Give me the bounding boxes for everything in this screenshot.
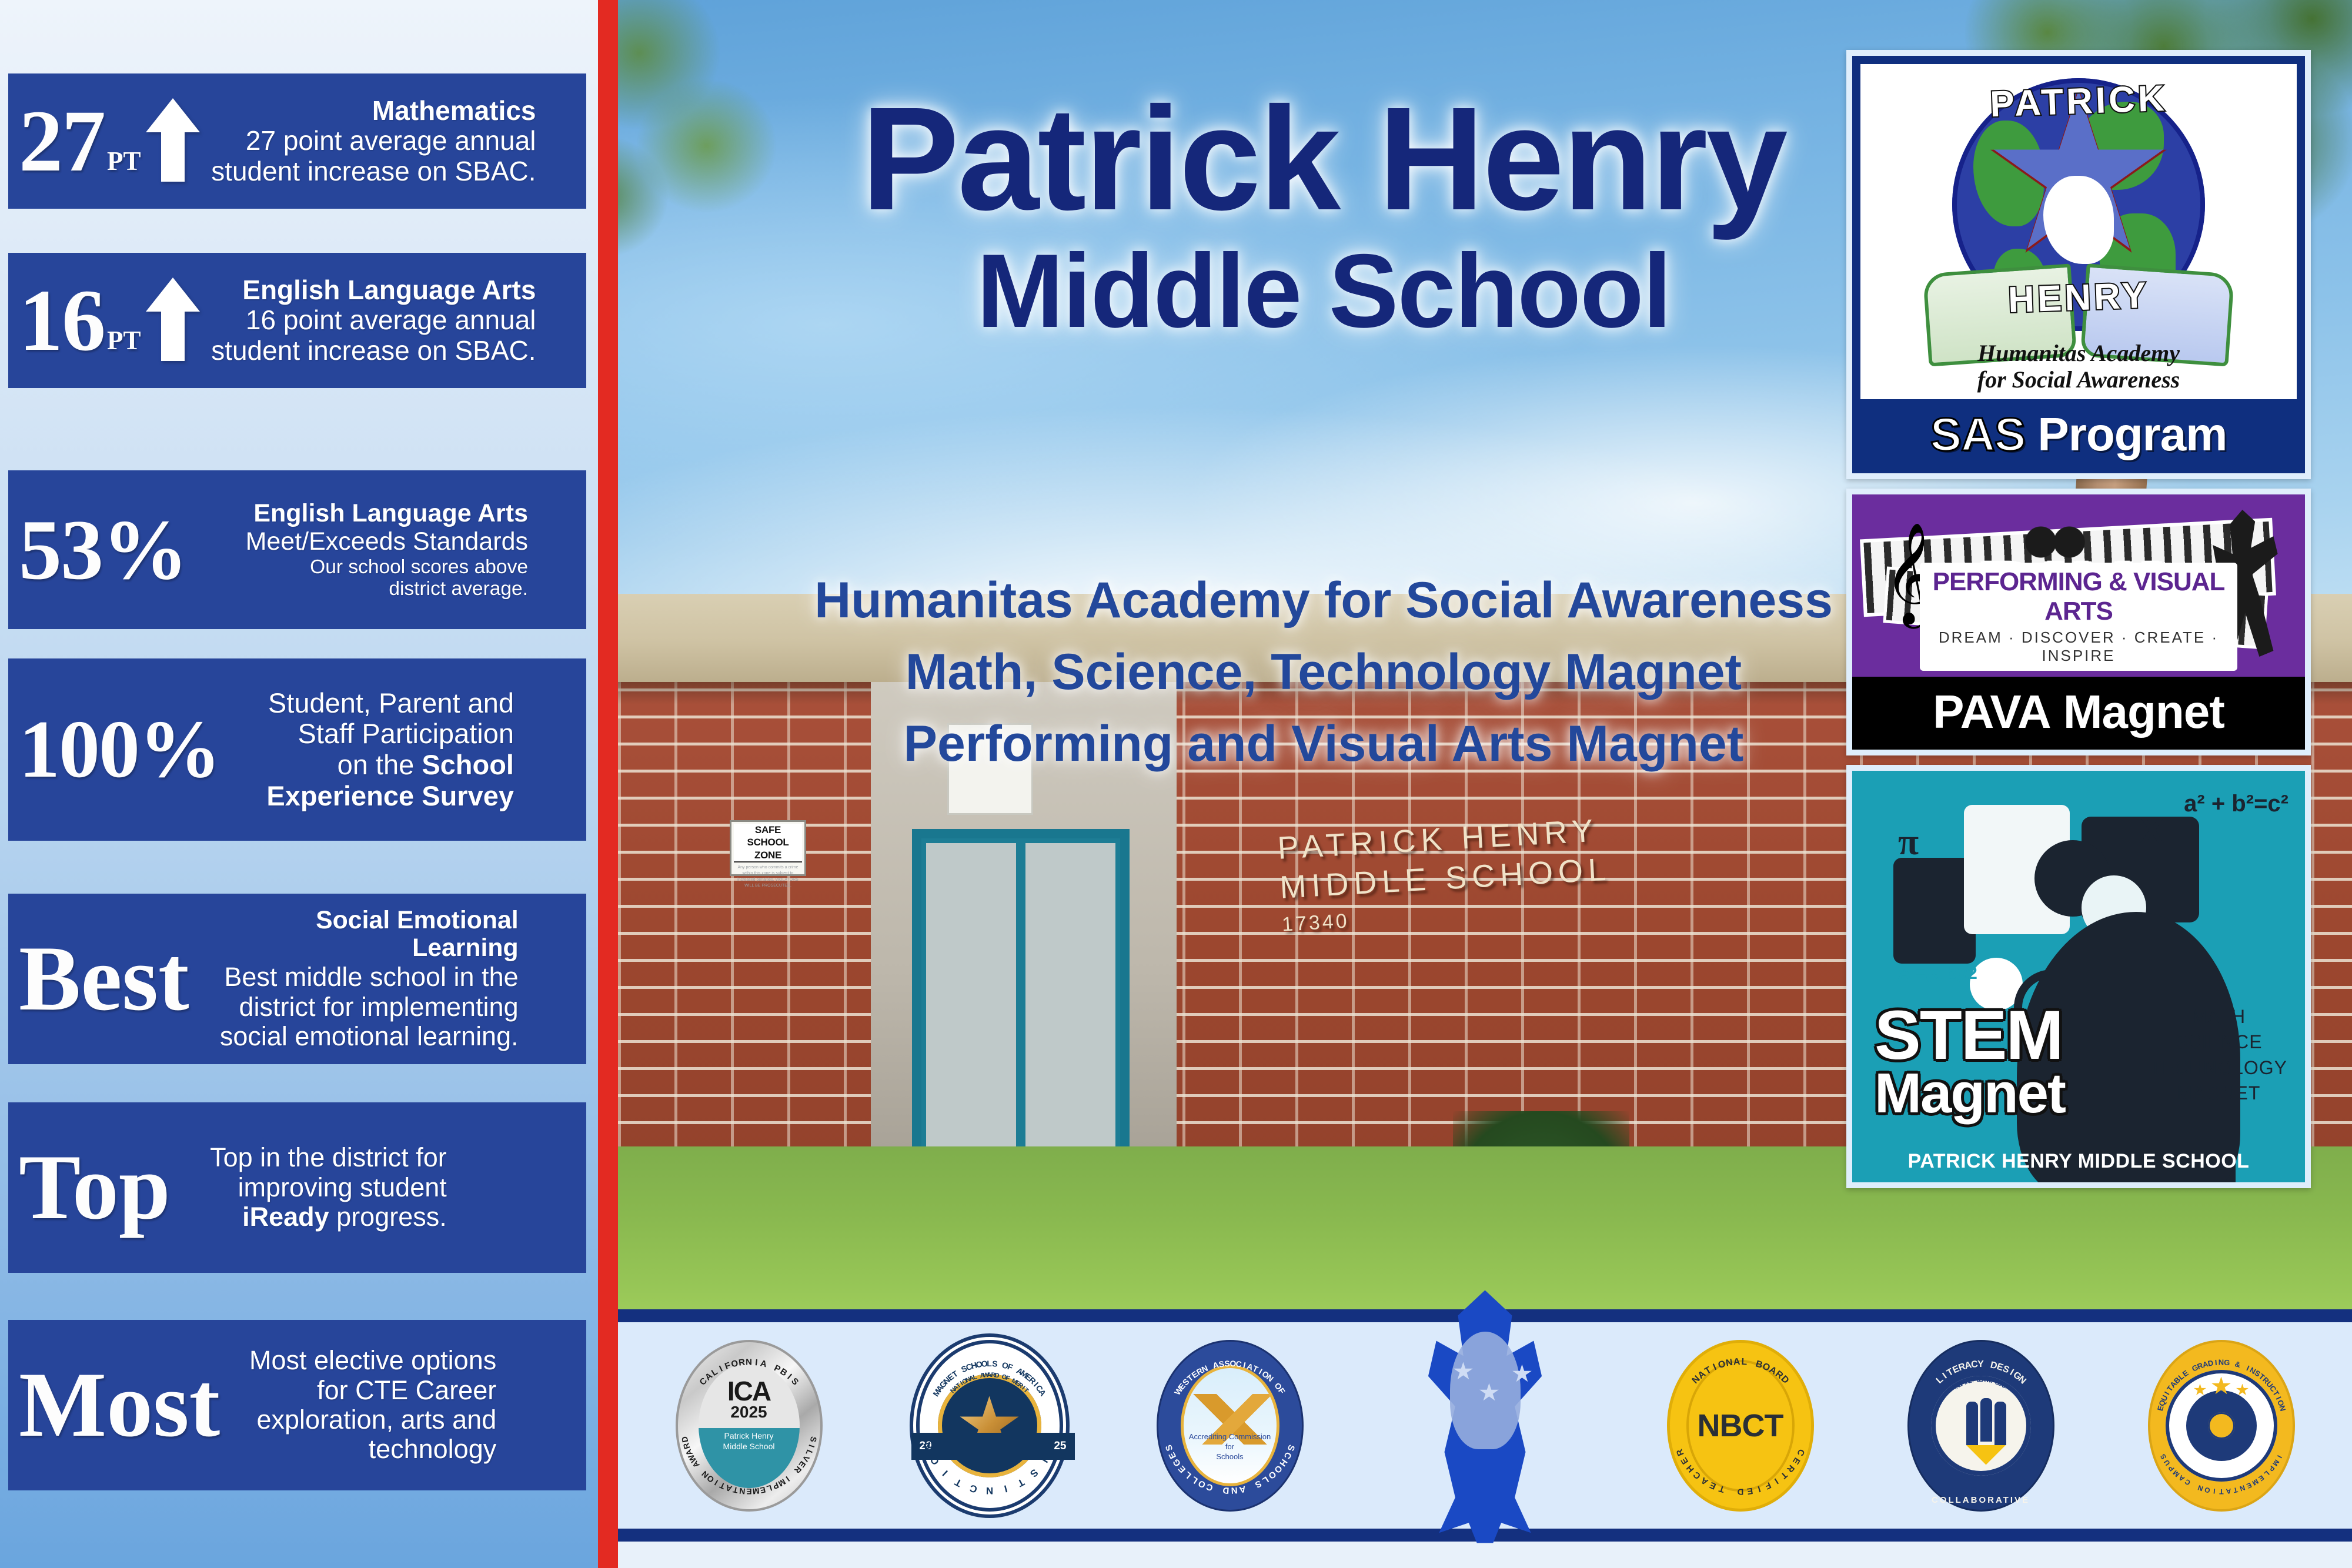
card-pava-label-bold: PAVA: [1933, 686, 2050, 738]
stat-detail-3: social emotional learning.: [189, 1022, 519, 1051]
stat-value: Best: [19, 936, 189, 1021]
stat-detail-1: 16 point average annual: [207, 305, 536, 336]
stem-subject-4: MAGNET: [2150, 1081, 2287, 1106]
stat-text: Mathematics 27 point average annual stud…: [207, 96, 536, 187]
stat-text: Top in the district for improving studen…: [171, 1143, 447, 1232]
stat-heading-3-bold: School: [422, 749, 514, 780]
stat-detail-3-bold: iReady: [242, 1202, 329, 1232]
literacy-ring-inner: INSPIRE. LEARN. LEAD.: [1907, 1512, 1908, 1512]
seal-ring-text: SCHOOLS AND COLLEGES: [1158, 1342, 1302, 1510]
stem-title-line-1: STEM: [1875, 1004, 2065, 1066]
sas-logo-word-bottom: HENRY: [2007, 275, 2150, 321]
stat-panel-sel: Best Social Emotional Learning Best midd…: [8, 894, 586, 1064]
stat-heading: Mathematics: [207, 96, 536, 126]
stat-value: Top: [19, 1145, 171, 1230]
page-title: Patrick Henry Middle School: [618, 88, 2029, 343]
stem-title-line-2: Magnet: [1875, 1068, 2065, 1119]
badge-magnet-schools-of-america[interactable]: 20 25 MAGNET SCHOOLS OF AMERICANATIONAL …: [916, 1340, 1063, 1512]
stat-unit: PT: [107, 149, 141, 173]
program-subtitles: Humanitas Academy for Social Awareness M…: [618, 564, 2029, 780]
card-pava-magnet[interactable]: 𝄞 PAVA PERFORMING & VISUAL ARTS DREAM · …: [1846, 489, 2311, 755]
seal-ring-text: INSPIRE. LEARN. LEAD.: [1909, 1342, 2053, 1510]
stat-panel-electives: Most Most elective options for CTE Caree…: [8, 1320, 586, 1490]
stem-subject-3: TECHNOLOGY: [2150, 1055, 2287, 1081]
stat-heading-1: Social Emotional: [189, 907, 519, 935]
stat-number: 16: [19, 280, 105, 361]
mascot-name: patriot-mascot: [1397, 1308, 1398, 1309]
up-arrow-icon: [145, 96, 201, 187]
door-leaf-right: [1021, 838, 1120, 1155]
building-wall-sign: PATRICK HENRY MIDDLE SCHOOL 17340: [1277, 811, 1613, 937]
wasc-seal: Accrediting Commission for Schools WESTE…: [1157, 1340, 1304, 1512]
wasc-ring-bottom: SCHOOLS AND COLLEGES: [1157, 1512, 1157, 1512]
pythagoras-formula: a² + b²=c²: [2184, 791, 2288, 817]
stat-detail-1: Our school scores above: [187, 556, 528, 579]
pi-symbol-icon: π: [1898, 820, 1919, 864]
stat-detail-2: student increase on SBAC.: [207, 336, 536, 366]
x-variable-icon: X: [2140, 811, 2164, 851]
card-sas-program[interactable]: PATRICK HENRY Humanitas Academy for Soci…: [1846, 50, 2311, 479]
stat-value: 53%: [19, 510, 187, 589]
stat-text: English Language Arts 16 point average a…: [207, 275, 536, 366]
nbct-ring-bottom: CERTIFIED TEACHER: [1667, 1512, 1668, 1512]
program-line-1: Humanitas Academy for Social Awareness: [618, 564, 2029, 636]
stat-panel-iready: Top Top in the district for improving st…: [8, 1102, 586, 1273]
stem-logo: π X A =(a b)/2 a² + b²=c² STEM Magnet MA…: [1852, 771, 2305, 1182]
card-sas-inner: PATRICK HENRY Humanitas Academy for Soci…: [1852, 56, 2305, 473]
stat-detail-3: exploration, arts and: [220, 1405, 496, 1435]
stat-heading-3-prefix: on the: [338, 749, 422, 780]
stat-detail-1: 27 point average annual: [207, 126, 536, 156]
stat-value: 27PT: [19, 101, 141, 182]
control-panel-icon: [1893, 858, 1976, 964]
msa-seal: 20 25 MAGNET SCHOOLS OF AMERICANATIONAL …: [916, 1340, 1063, 1512]
card-sas-label-bold: SAS: [1930, 408, 2026, 460]
seal-ring-text: DISTINCTION: [920, 1343, 1060, 1508]
stem-title: STEM Magnet: [1875, 1004, 2065, 1119]
stat-value: Most: [19, 1362, 220, 1447]
wasc-ring-top: WESTERN ASSOCIATION OF: [1157, 1512, 1157, 1512]
stat-detail-2: improving student: [171, 1173, 447, 1202]
safe-sign-heading: SAFE SCHOOL ZONE: [734, 824, 802, 862]
stat-panel-ela-standards: 53% English Language Arts Meet/Exceeds S…: [8, 470, 586, 629]
accreditation-badge-bar: ICA 2025 Patrick Henry Middle School CAL…: [618, 1309, 2352, 1542]
stat-text: Student, Parent and Staff Participation …: [220, 688, 514, 812]
sas-logo-script: Humanitas Academy for Social Awareness: [1860, 340, 2297, 393]
badge-literacy-design-collaborative[interactable]: COLLABORATIVE LITERACY DESIGNINSPIRE. LE…: [1907, 1340, 2054, 1512]
stat-subheading: Meet/Exceeds Standards: [187, 527, 528, 556]
card-sas-label-rest: Program: [2025, 408, 2227, 460]
literacy-ring-top: LITERACY DESIGN: [1907, 1512, 1908, 1512]
school-type: Middle School: [618, 239, 2029, 343]
card-sas-label: SAS Program: [1860, 399, 2297, 465]
msa-ring-inner: NATIONAL AWARD OF MERIT: [916, 1512, 917, 1512]
pbis-seal: ICA 2025 Patrick Henry Middle School CAL…: [676, 1340, 823, 1512]
stat-heading-3: on the School: [220, 750, 514, 781]
stem-subject-1: MATH: [2150, 1004, 2287, 1029]
stat-number: 27: [19, 101, 105, 182]
pava-motto: DREAM · DISCOVER · CREATE · INSPIRE: [1920, 628, 2237, 665]
stem-footer: PATRICK HENRY MIDDLE SCHOOL: [1852, 1150, 2305, 1173]
stat-heading-2: Learning: [189, 934, 519, 962]
sas-logo-word-top: PATRICK: [1989, 78, 2168, 125]
stat-detail-4: technology: [220, 1435, 496, 1464]
pbis-center-small: PBIS: [676, 1512, 676, 1512]
sas-script-line-2: for Social Awareness: [1860, 367, 2297, 393]
card-stem-magnet[interactable]: π X A =(a b)/2 a² + b²=c² STEM Magnet MA…: [1846, 765, 2311, 1188]
sas-logo: PATRICK HENRY Humanitas Academy for Soci…: [1860, 64, 2297, 399]
stat-panel-mathematics: 27PT Mathematics 27 point average annual…: [8, 73, 586, 209]
entrance-doors: [912, 829, 1130, 1164]
stat-detail-1: Most elective options: [220, 1346, 496, 1375]
seal-ring-text: CERTIFIED TEACHER: [1670, 1343, 1811, 1509]
stat-heading: English Language Arts: [187, 499, 528, 527]
stat-unit: PT: [107, 329, 141, 353]
program-line-2: Math, Science, Technology Magnet: [618, 636, 2029, 708]
badge-california-pbis[interactable]: ICA 2025 Patrick Henry Middle School CAL…: [676, 1340, 823, 1512]
safe-school-zone-sign: SAFE SCHOOL ZONE Any person who commits …: [730, 820, 806, 876]
program-line-3: Performing and Visual Arts Magnet: [618, 708, 2029, 780]
equitable-ring-top: EQUITABLE GRADING & INSTRUCTION: [2148, 1512, 2149, 1512]
stat-text: Most elective options for CTE Career exp…: [220, 1346, 496, 1465]
school-name: Patrick Henry: [618, 88, 2029, 229]
pbis-ring-top: CALIFORNIA PBIS: [676, 1512, 676, 1512]
nbct-seal: NBCT NATIONAL BOARDCERTIFIED TEACHER: [1667, 1340, 1814, 1512]
msa-ring-bottom: DISTINCTION: [916, 1512, 917, 1512]
badge-patriot-mascot[interactable]: patriot-mascot: [1397, 1308, 1573, 1543]
door-leaf-left: [921, 838, 1021, 1155]
stat-detail-2: student increase on SBAC.: [207, 156, 536, 187]
stat-panel-ela-growth: 16PT English Language Arts 16 point aver…: [8, 253, 586, 388]
badge-equitable-grading-instruction[interactable]: EQUITABLE GRADING & INSTRUCTIONIMPLEMENT…: [2148, 1340, 2295, 1512]
red-divider: [598, 0, 618, 1568]
stem-subject-list: MATH SCIENCE TECHNOLOGY MAGNET: [2150, 1004, 2287, 1106]
stat-text: English Language Arts Meet/Exceeds Stand…: [187, 499, 528, 600]
pava-tagline-plate: PERFORMING & VISUAL ARTS DREAM · DISCOVE…: [1920, 563, 2237, 671]
stat-value: 100%: [19, 712, 220, 788]
stat-text: Social Emotional Learning Best middle sc…: [189, 907, 519, 1052]
equitable-seal: EQUITABLE GRADING & INSTRUCTIONIMPLEMENT…: [2148, 1340, 2295, 1512]
up-arrow-icon: [145, 275, 201, 366]
pbis-ring-bottom: SILVER IMPLEMENTATION AWARD: [676, 1512, 676, 1512]
nbct-ring-top: NATIONAL BOARD: [1667, 1512, 1668, 1512]
equitable-ring-bottom: IMPLEMENTATION CAMPUS: [2148, 1512, 2149, 1512]
pava-logo: 𝄞 PAVA PERFORMING & VISUAL ARTS DREAM · …: [1852, 494, 2305, 677]
seal-ring-text: IMPLEMENTATION CAMPUS: [2150, 1342, 2293, 1509]
stat-detail-3: iReady progress.: [171, 1202, 447, 1232]
badge-wasc-accreditation[interactable]: Accrediting Commission for Schools WESTE…: [1157, 1340, 1304, 1512]
stat-detail-3-rest: progress.: [329, 1202, 447, 1232]
card-pava-label: PAVA Magnet: [1852, 677, 2305, 750]
card-pava-label-rest: Magnet: [2051, 686, 2224, 738]
safe-sign-body: Any person who commits a crime within th…: [734, 865, 802, 890]
stat-heading-2: Staff Participation: [220, 718, 514, 750]
pava-tagline: PERFORMING & VISUAL ARTS: [1920, 567, 2237, 626]
stat-heading-4: Experience Survey: [220, 781, 514, 812]
stat-detail-2: for CTE Career: [220, 1376, 496, 1405]
stat-detail-2: district for implementing: [189, 992, 519, 1022]
literacy-seal: COLLABORATIVE LITERACY DESIGNINSPIRE. LE…: [1907, 1340, 2054, 1512]
stat-heading-1: Student, Parent and: [220, 688, 514, 719]
stem-subject-2: SCIENCE: [2150, 1029, 2287, 1055]
stat-detail-1: Top in the district for: [171, 1143, 447, 1172]
stat-heading: English Language Arts: [207, 275, 536, 306]
seal-ring-text: SILVER IMPLEMENTATION AWARD: [678, 1342, 820, 1509]
area-formula: A =(a b)/2: [1898, 964, 1977, 984]
stat-value: 16PT: [19, 280, 141, 361]
card-pava-inner: 𝄞 PAVA PERFORMING & VISUAL ARTS DREAM · …: [1852, 494, 2305, 750]
stats-sidebar: 27PT Mathematics 27 point average annual…: [0, 0, 598, 1568]
badge-national-board-certified-teacher[interactable]: NBCT NATIONAL BOARDCERTIFIED TEACHER NAT…: [1667, 1340, 1814, 1512]
poster-canvas: 27PT Mathematics 27 point average annual…: [0, 0, 2352, 1568]
sas-script-line-1: Humanitas Academy: [1860, 340, 2297, 367]
msa-ring-top: MAGNET SCHOOLS OF AMERICA: [916, 1512, 917, 1512]
stat-detail-2: district average.: [187, 578, 528, 600]
stat-panel-participation: 100% Student, Parent and Staff Participa…: [8, 658, 586, 841]
stat-detail-1: Best middle school in the: [189, 962, 519, 992]
program-cards: PATRICK HENRY Humanitas Academy for Soci…: [1846, 50, 2311, 1198]
stat-heading-4-bold: Experience Survey: [266, 780, 514, 811]
